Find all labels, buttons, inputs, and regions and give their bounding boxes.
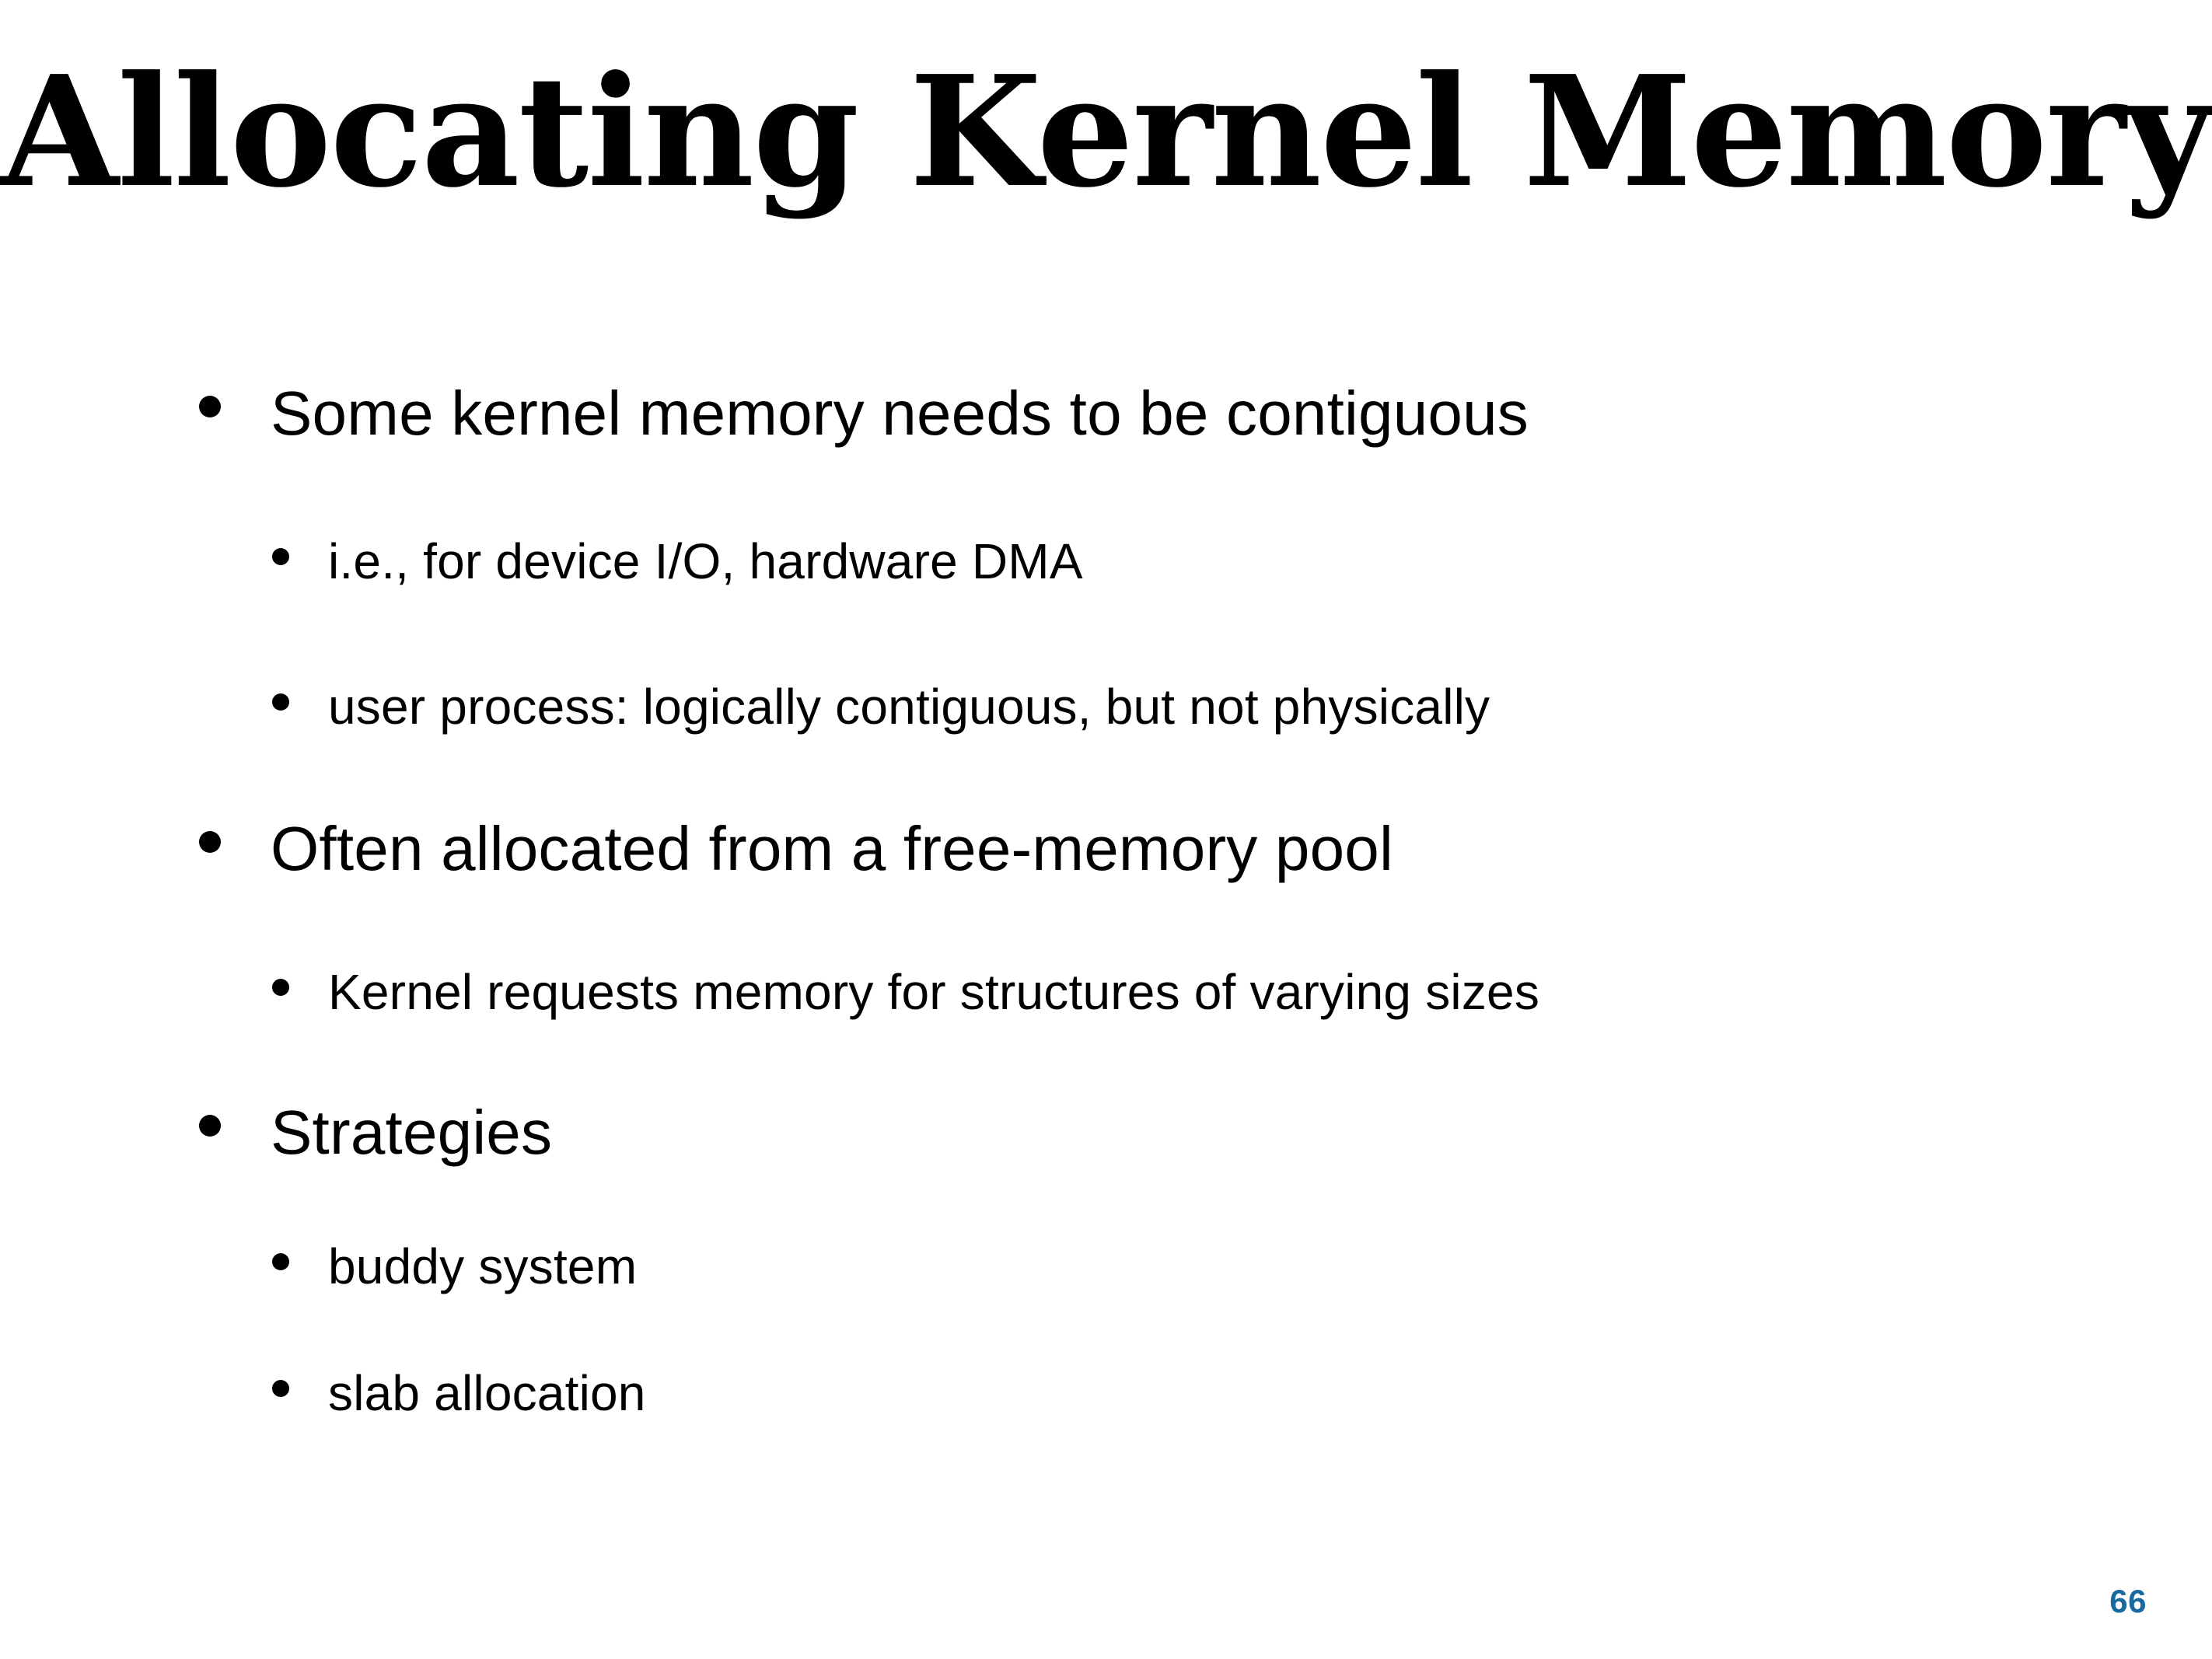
list-item-label: Some kernel memory needs to be contiguou…	[271, 382, 1529, 445]
list-item: slab allocation	[272, 1368, 646, 1418]
list-item: Kernel requests memory for structures of…	[272, 967, 1539, 1017]
list-item-label: i.e., for device I/O, hardware DMA	[328, 536, 1083, 586]
list-item-label: Kernel requests memory for structures of…	[328, 967, 1539, 1017]
bullet-dot-icon	[272, 1253, 289, 1270]
bullet-dot-icon	[199, 831, 221, 853]
bullet-list: Some kernel memory needs to be contiguou…	[0, 0, 2212, 1659]
list-item: user process: logically contiguous, but …	[272, 682, 1490, 732]
list-item-label: slab allocation	[328, 1368, 646, 1418]
list-item-label: Strategies	[271, 1102, 552, 1164]
bullet-dot-icon	[199, 396, 221, 417]
list-item: Often allocated from a free-memory pool	[199, 818, 1393, 880]
list-item: i.e., for device I/O, hardware DMA	[272, 536, 1083, 586]
bullet-dot-icon	[272, 548, 289, 565]
bullet-dot-icon	[272, 1380, 289, 1397]
page-number: 66	[2109, 1583, 2147, 1620]
list-item: buddy system	[272, 1242, 637, 1291]
bullet-dot-icon	[272, 693, 289, 711]
list-item-label: Often allocated from a free-memory pool	[271, 818, 1393, 880]
bullet-dot-icon	[199, 1115, 221, 1137]
bullet-dot-icon	[272, 979, 289, 996]
list-item: Some kernel memory needs to be contiguou…	[199, 382, 1529, 445]
list-item-label: user process: logically contiguous, but …	[328, 682, 1490, 732]
list-item: Strategies	[199, 1102, 552, 1164]
list-item-label: buddy system	[328, 1242, 637, 1291]
slide-canvas: Allocating Kernel Memory Some kernel mem…	[0, 0, 2212, 1659]
